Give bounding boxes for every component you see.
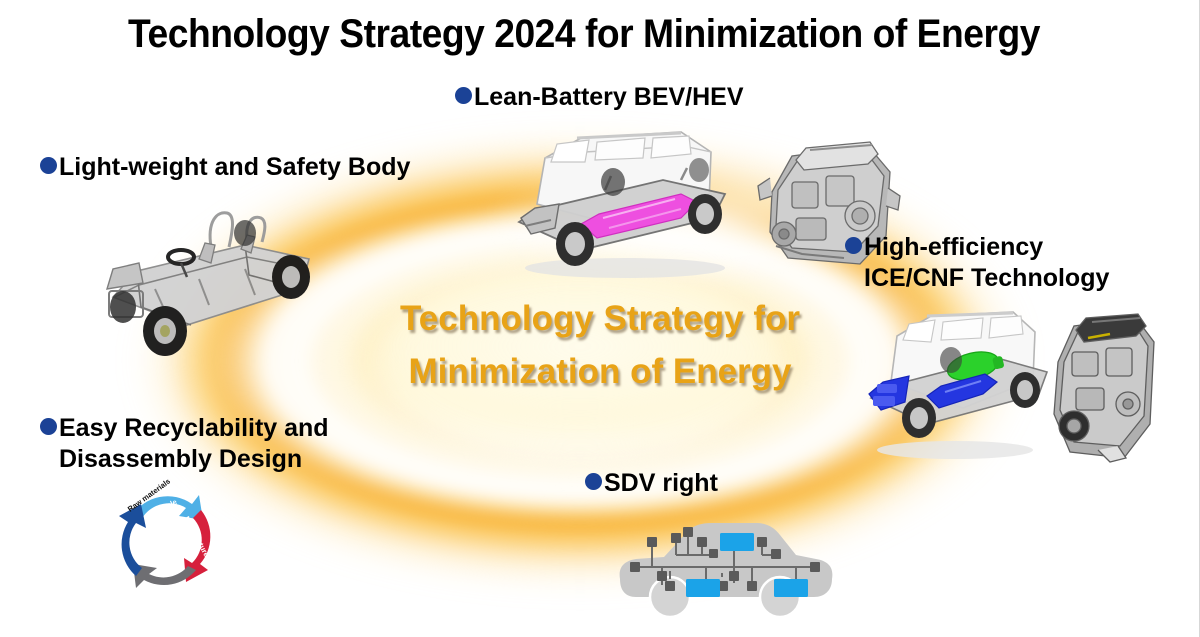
circular-economy-diagram: Raw materials Recycle Manufacture Use Sc… <box>100 478 235 618</box>
callout-text: High-efficiency <box>864 233 1043 261</box>
center-caption: Technology Strategy for Minimization of … <box>330 292 870 398</box>
callout-line: Easy Recyclability and <box>40 413 329 444</box>
callout-line: High-efficiency <box>845 232 1109 263</box>
bullet-icon <box>455 87 472 104</box>
center-caption-line2: Minimization of Energy <box>330 345 870 398</box>
callout-text: SDV right <box>604 469 718 497</box>
page-title: Technology Strategy 2024 for Minimizatio… <box>41 12 1127 57</box>
callout-line-2: Disassembly Design <box>40 444 329 475</box>
bullet-icon <box>40 418 57 435</box>
bev-vehicle-illustration <box>485 118 750 283</box>
callout-line: Light-weight and Safety Body <box>40 152 410 183</box>
callout-high-efficiency-ice-cnf: High-efficiency ICE/CNF Technology <box>845 232 1109 293</box>
callout-easy-recyclability: Easy Recyclability and Disassembly Desig… <box>40 413 329 474</box>
callout-text: Easy Recyclability and <box>59 414 329 442</box>
bullet-icon <box>585 473 602 490</box>
slide-canvas: Technology Strategy 2024 for Minimizatio… <box>0 0 1200 637</box>
bullet-icon <box>845 237 862 254</box>
sdv-network-diagram <box>610 505 840 630</box>
bullet-icon <box>40 157 57 174</box>
callout-text: Light-weight and Safety Body <box>59 153 410 181</box>
callout-line-2: ICE/CNF Technology <box>845 263 1109 294</box>
callout-line: SDV right <box>585 468 718 499</box>
callout-light-weight-safety-body: Light-weight and Safety Body <box>40 152 410 183</box>
callout-line: Lean-Battery BEV/HEV <box>455 82 744 113</box>
callout-lean-battery-bev-hev: Lean-Battery BEV/HEV <box>455 82 744 113</box>
center-caption-line1: Technology Strategy for <box>330 292 870 345</box>
chassis-illustration <box>95 185 335 375</box>
ice-engine-illustration-2 <box>1040 312 1165 472</box>
callout-sdv-right: SDV right <box>585 468 718 499</box>
segment-scrap <box>119 504 146 576</box>
callout-text: Lean-Battery BEV/HEV <box>474 83 744 111</box>
hev-vehicle-illustration <box>855 300 1050 465</box>
